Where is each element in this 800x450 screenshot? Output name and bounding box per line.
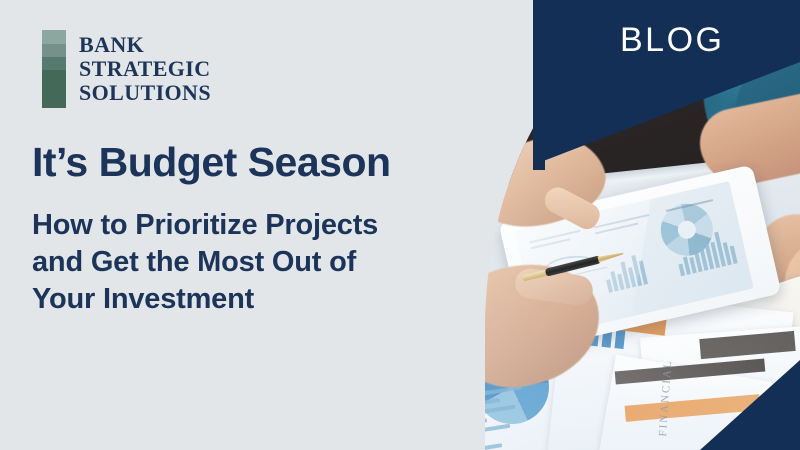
- stacked-bars-logo-mark-icon: [42, 30, 66, 108]
- brand-logo-line-1: BANK: [79, 33, 211, 57]
- brand-logo-line-2: STRATEGIC: [79, 57, 211, 81]
- page-title: It’s Budget Season: [32, 138, 391, 186]
- blog-header-graphic: FINANCIAL: [0, 0, 800, 450]
- subtitle-line-3: Your Investment: [32, 281, 378, 318]
- brand-logo-line-3: SOLUTIONS: [79, 81, 211, 105]
- brand-logo-text: BANK STRATEGIC SOLUTIONS: [79, 33, 211, 105]
- subtitle-line-1: How to Prioritize Projects: [32, 207, 378, 244]
- page-subtitle: How to Prioritize Projects and Get the M…: [32, 207, 378, 318]
- brand-logo[interactable]: BANK STRATEGIC SOLUTIONS: [42, 30, 211, 108]
- subtitle-line-2: and Get the Most Out of: [32, 244, 378, 281]
- blog-category-label: BLOG: [620, 21, 724, 60]
